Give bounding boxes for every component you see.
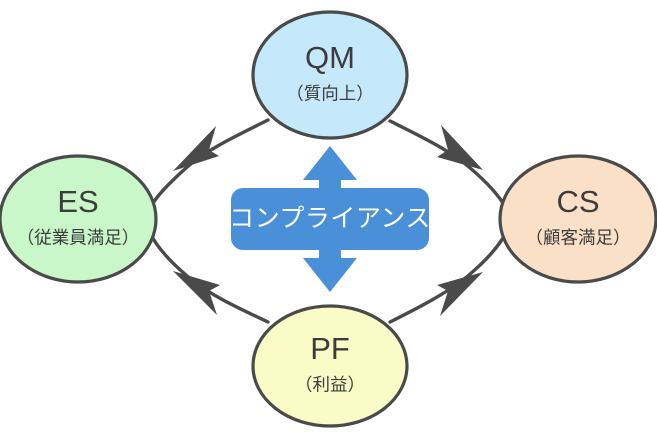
- node-qm-sublabel: （質向上）: [286, 84, 374, 104]
- node-qm-abbr: QM: [305, 40, 355, 75]
- node-es-sublabel: （従業員満足）: [17, 228, 140, 248]
- cycle-diagram: QM （質向上） ES （従業員満足） CS （顧客満足） PF （利益） コン…: [0, 0, 657, 443]
- compliance-label: コンプライアンス: [229, 205, 431, 233]
- node-es[interactable]: ES （従業員満足）: [0, 156, 156, 282]
- node-cs-sublabel: （顧客満足）: [526, 228, 631, 248]
- node-cs-abbr: CS: [556, 184, 599, 219]
- center-compliance-group[interactable]: コンプライアンス: [229, 146, 431, 292]
- node-cs[interactable]: CS （顧客満足）: [500, 156, 656, 282]
- node-pf-abbr: PF: [310, 331, 350, 366]
- node-pf[interactable]: PF （利益）: [253, 306, 407, 426]
- node-pf-sublabel: （利益）: [295, 375, 365, 395]
- diagram-canvas: QM （質向上） ES （従業員満足） CS （顧客満足） PF （利益） コン…: [0, 0, 657, 443]
- node-es-abbr: ES: [57, 184, 98, 219]
- node-qm[interactable]: QM （質向上）: [253, 12, 407, 138]
